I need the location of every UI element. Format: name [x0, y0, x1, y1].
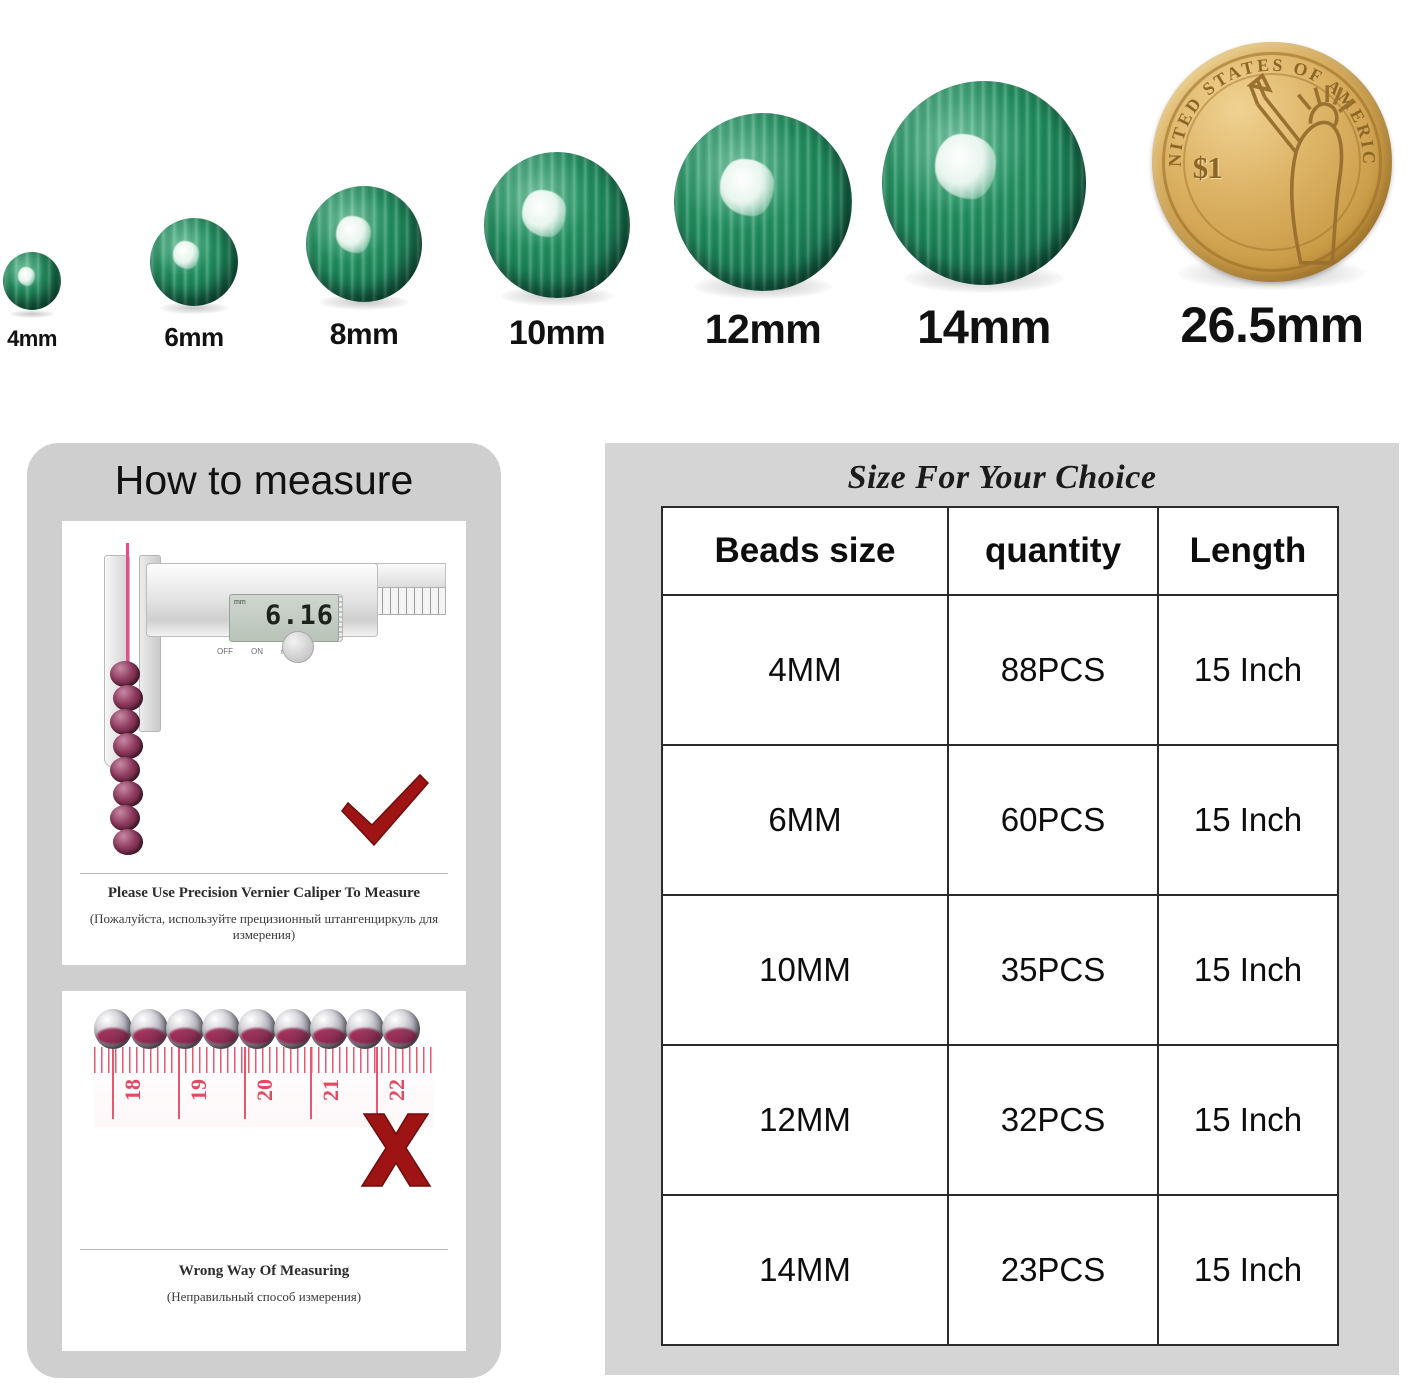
table-row: 10MM35PCS15 Inch: [662, 895, 1338, 1045]
strand-bead: [110, 709, 140, 735]
table-row: 14MM23PCS15 Inch: [662, 1195, 1338, 1345]
wrong-caption-en: Wrong Way Of Measuring: [70, 1263, 458, 1280]
how-to-measure-title: How to measure: [27, 457, 501, 504]
malachite-bead: [484, 152, 630, 298]
size-table-title: Size For Your Choice: [605, 459, 1399, 497]
table-row: 4MM88PCS15 Inch: [662, 595, 1338, 745]
malachite-bead: [882, 81, 1086, 285]
table-cell-length: 15 Inch: [1158, 745, 1338, 895]
malachite-bead: [3, 252, 61, 310]
table-body: 4MM88PCS15 Inch6MM60PCS15 Inch10MM35PCS1…: [662, 595, 1338, 1345]
tape-number-label: 19: [186, 1079, 212, 1101]
caliper-reading-value: 6.16: [230, 602, 334, 629]
caliper-body: mm 6.16 OFF ON mm/inch: [146, 563, 378, 637]
vernier-caliper-illustration: mm 6.16 OFF ON mm/inch: [84, 543, 444, 868]
metal-bead: [166, 1009, 204, 1049]
strand-bead: [113, 781, 143, 807]
table-cell-quantity: 23PCS: [948, 1195, 1158, 1345]
table-header-beads-size: Beads size: [662, 507, 948, 595]
check-icon: [336, 771, 432, 856]
tape-number-label: 21: [318, 1079, 344, 1101]
correct-caption-ru: (Пожалуйста, используйте прецизионный шт…: [66, 911, 462, 943]
table-cell-beads-size: 10MM: [662, 895, 948, 1045]
tape-major-tick: [310, 1047, 312, 1119]
metal-bead: [274, 1009, 312, 1049]
malachite-bead: [306, 186, 422, 302]
table-cell-length: 15 Inch: [1158, 895, 1338, 1045]
caliper-lock-screw: [282, 631, 314, 663]
table-cell-quantity: 35PCS: [948, 895, 1158, 1045]
table-cell-length: 15 Inch: [1158, 1195, 1338, 1345]
metal-bead: [382, 1009, 420, 1049]
how-to-measure-panel: How to measure mm 6.16 OFF ON mm/inch: [27, 443, 501, 1378]
tape-number-label: 22: [384, 1079, 410, 1101]
size-label: 14mm: [854, 303, 1114, 350]
caliper-off-button: OFF: [217, 647, 233, 656]
table-row: 12MM32PCS15 Inch: [662, 1045, 1338, 1195]
dollar-coin: UNITED STATES OF AMERICA$1: [1152, 42, 1392, 282]
table-cell-length: 15 Inch: [1158, 1045, 1338, 1195]
statue-of-liberty-icon: UNITED STATES OF AMERICA: [1152, 42, 1392, 282]
bead-size-comparison-row: 4mm6mm8mm10mm12mm14mmUNITED STATES OF AM…: [0, 0, 1414, 350]
table-cell-beads-size: 4MM: [662, 595, 948, 745]
size-item-14mm: 14mm: [854, 77, 1114, 350]
table-row: 6MM60PCS15 Inch: [662, 745, 1338, 895]
tape-major-tick: [178, 1047, 180, 1119]
wrong-caption-divider: [80, 1249, 448, 1250]
table-cell-beads-size: 14MM: [662, 1195, 948, 1345]
table-header-row: Beads sizequantityLength: [662, 507, 1338, 595]
strand-bead: [113, 685, 143, 711]
tape-number-label: 20: [252, 1079, 278, 1101]
table-header-length: Length: [1158, 507, 1338, 595]
tape-major-tick: [244, 1047, 246, 1119]
bead-shadow: [9, 310, 54, 318]
table-cell-beads-size: 6MM: [662, 745, 948, 895]
size-label: 26.5mm: [1142, 300, 1402, 350]
coin-denomination: $1: [1193, 150, 1222, 186]
wrong-caption-ru: (Неправильный способ измерения): [66, 1289, 462, 1305]
strand-bead: [113, 829, 143, 855]
correct-caption-en: Please Use Precision Vernier Caliper To …: [70, 885, 458, 902]
table-cell-beads-size: 12MM: [662, 1045, 948, 1195]
tape-number-label: 18: [120, 1079, 146, 1101]
metal-bead: [202, 1009, 240, 1049]
table-cell-quantity: 32PCS: [948, 1045, 1158, 1195]
correct-caption-divider: [80, 873, 448, 874]
caliper-lcd-display: mm 6.16: [229, 594, 339, 642]
tape-major-tick: [112, 1047, 114, 1119]
tape-measure-illustration: 1819202122: [76, 1007, 452, 1207]
metal-bead: [238, 1009, 276, 1049]
strand-bead: [110, 661, 140, 687]
table-cell-quantity: 60PCS: [948, 745, 1158, 895]
metal-bead-strand: [94, 1009, 438, 1053]
table-header-quantity: quantity: [948, 507, 1158, 595]
caliper-on-button: ON: [251, 647, 263, 656]
size-table-panel: Size For Your Choice Beads sizequantityL…: [605, 443, 1399, 1375]
metal-bead: [346, 1009, 384, 1049]
bead-strand-vertical: [110, 661, 144, 861]
metal-bead: [94, 1009, 132, 1049]
malachite-bead: [150, 218, 238, 306]
malachite-bead: [674, 113, 852, 291]
strand-bead: [110, 757, 140, 783]
size-item-26-5mm: UNITED STATES OF AMERICA$126.5mm: [1142, 38, 1402, 350]
correct-method-card: mm 6.16 OFF ON mm/inch Please Use Precis…: [62, 521, 466, 965]
wrong-method-card: 1819202122 Wrong Way Of Measuring (Непра…: [62, 991, 466, 1351]
x-icon: [354, 1108, 438, 1197]
strand-bead: [113, 733, 143, 759]
table-cell-quantity: 88PCS: [948, 595, 1158, 745]
metal-bead: [130, 1009, 168, 1049]
metal-bead: [310, 1009, 348, 1049]
table-cell-length: 15 Inch: [1158, 595, 1338, 745]
strand-bead: [110, 805, 140, 831]
size-table: Beads sizequantityLength 4MM88PCS15 Inch…: [661, 506, 1339, 1346]
